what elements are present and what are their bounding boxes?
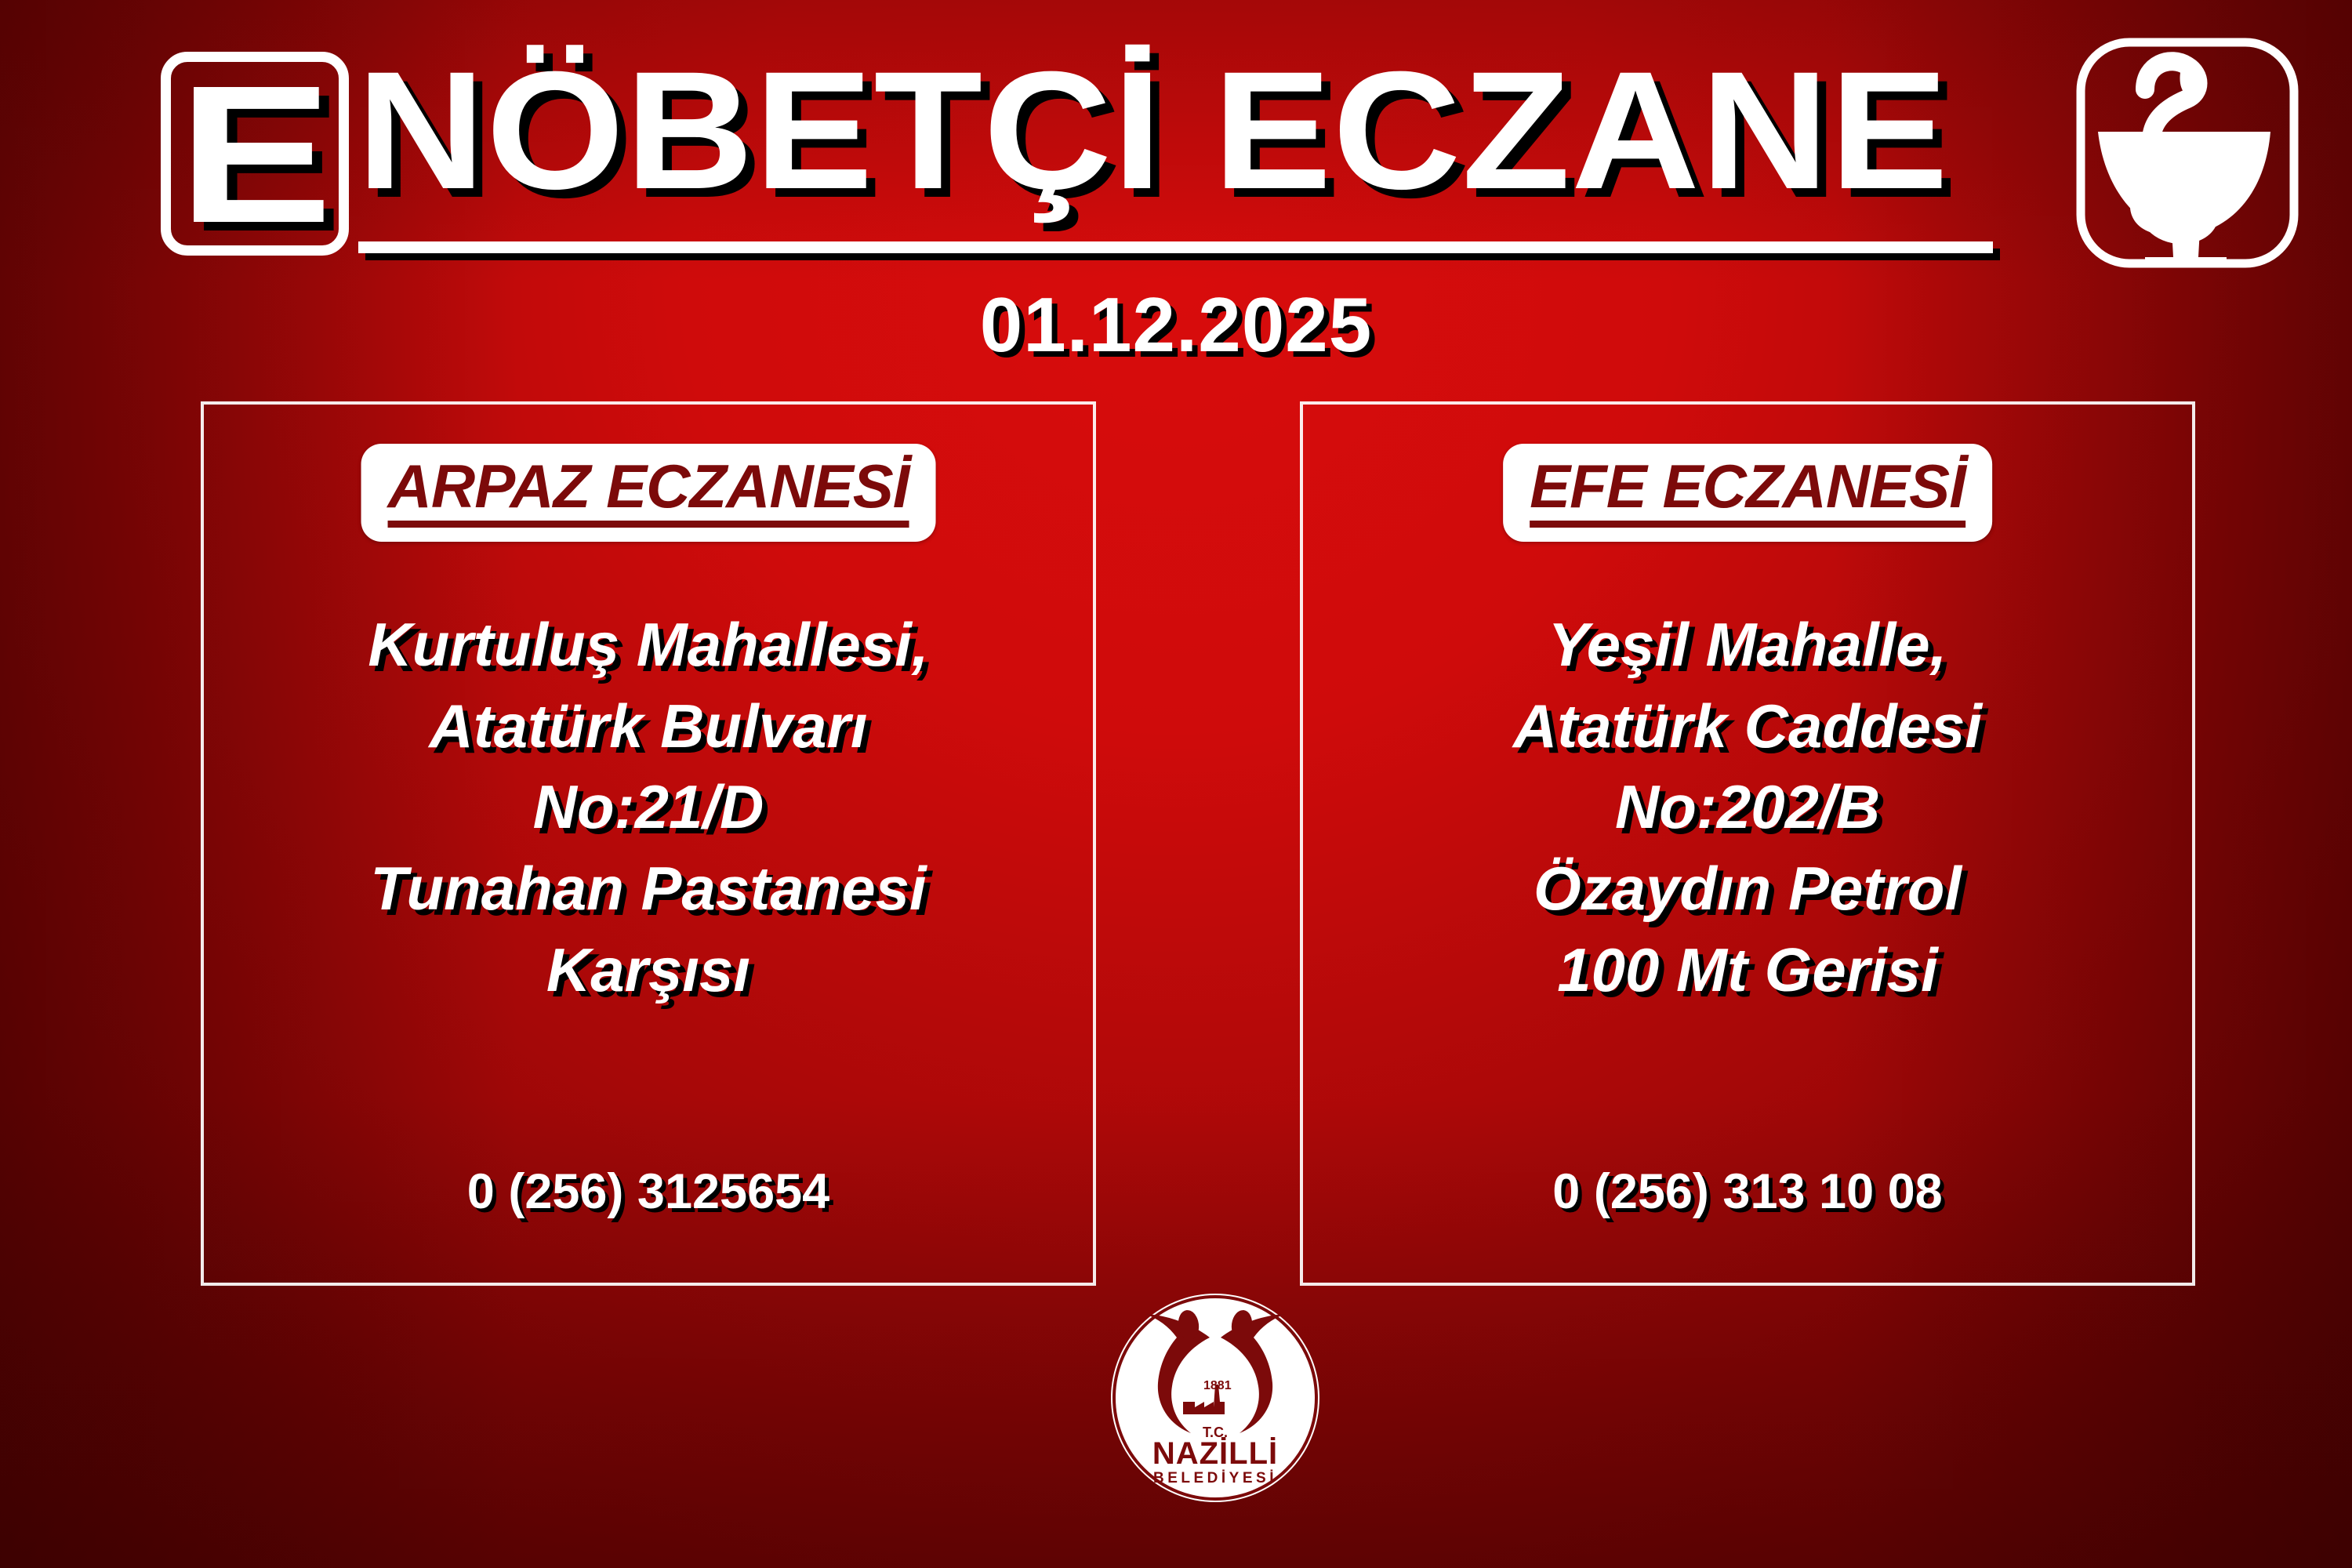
pharmacy-name: ARPAZ ECZANESİ — [388, 455, 909, 528]
pharmacy-address: Kurtuluş Mahallesi,Atatürk BulvarıNo:21/… — [204, 604, 1093, 1011]
pharmacy-name-badge: EFE ECZANESİ — [1503, 444, 1992, 542]
logo-subtitle: BELEDİYESİ — [1153, 1470, 1277, 1486]
e-badge-letter: E — [178, 74, 328, 234]
pharmacy-phone[interactable]: 0 (256) 313 10 08 — [1303, 1163, 2192, 1220]
bowl-of-hygieia-icon — [2070, 31, 2305, 274]
pharmacy-name-badge: ARPAZ ECZANESİ — [361, 444, 936, 542]
logo-year: 1881 — [1203, 1379, 1232, 1392]
title-underline — [358, 241, 1993, 253]
pharmacy-card-left: ARPAZ ECZANESİ Kurtuluş Mahallesi,Atatür… — [201, 401, 1096, 1286]
page-title: NÖBETÇİ ECZANE — [357, 45, 2127, 216]
nazilli-belediyesi-logo: 1881 T.C. NAZİLLİ BELEDİYESİ — [1109, 1292, 1321, 1504]
date-label: 01.12.2025 — [0, 281, 2352, 369]
header: E NÖBETÇİ ECZANE 01.12.2025 — [0, 14, 2352, 273]
pharmacy-name: EFE ECZANESİ — [1530, 455, 1965, 528]
pharmacy-phone[interactable]: 0 (256) 3125654 — [204, 1163, 1093, 1220]
pharmacy-card-right: EFE ECZANESİ Yeşil Mahalle,Atatürk Cadde… — [1300, 401, 2195, 1286]
title-wrap: NÖBETÇİ ECZANE — [357, 45, 2027, 245]
logo-city: NAZİLLİ — [1152, 1436, 1278, 1471]
e-badge: E — [161, 52, 349, 256]
pharmacy-address: Yeşil Mahalle,Atatürk CaddesiNo:202/BÖza… — [1303, 604, 2192, 1011]
